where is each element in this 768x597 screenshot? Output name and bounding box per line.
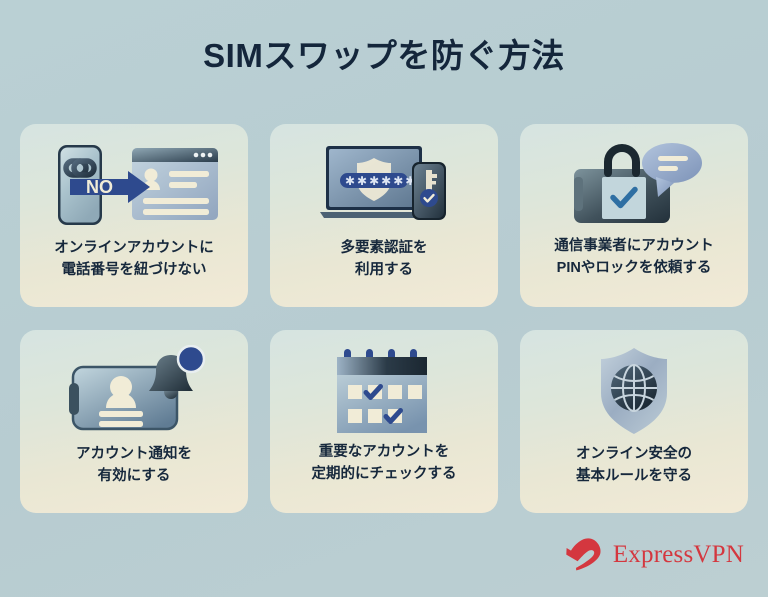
tip-card-6[interactable]: オンライン安全の 基本ルールを守る bbox=[520, 330, 748, 513]
tip-card-2-label: 多要素認証を 利用する bbox=[278, 238, 490, 282]
tip-card-1-label: オンラインアカウントに 電話番号を紐づけない bbox=[28, 238, 240, 282]
tips-grid: NO オンラインアカウントに 電話番号を紐づけない bbox=[20, 124, 748, 513]
phone-no-link-to-browser-account-icon: NO bbox=[20, 138, 248, 232]
infographic-poster: SIMスワップを防ぐ方法 bbox=[0, 0, 768, 597]
laptop-shield-password-phone-key-icon: ✱✱✱✱✱✱ bbox=[270, 138, 498, 232]
tip-card-2[interactable]: ✱✱✱✱✱✱ 多要素認証を 利用する bbox=[270, 124, 498, 307]
expressvpn-e-mark-icon bbox=[564, 537, 604, 571]
page-title: SIMスワップを防ぐ方法 bbox=[0, 36, 768, 76]
password-mask-text: ✱✱✱✱✱✱ bbox=[345, 174, 417, 188]
no-badge-text: NO bbox=[86, 177, 113, 197]
tip-card-4-label: アカウント通知を 有効にする bbox=[28, 444, 240, 488]
tip-card-5[interactable]: 重要なアカウントを 定期的にチェックする bbox=[270, 330, 498, 513]
briefcase-padlock-check-chat-bubble-icon bbox=[520, 138, 748, 232]
id-card-bell-notification-icon bbox=[20, 344, 248, 438]
shield-globe-icon bbox=[520, 344, 748, 438]
tip-card-3-label: 通信事業者にアカウント PINやロックを依頼する bbox=[528, 236, 740, 280]
expressvpn-wordmark: ExpressVPN bbox=[613, 542, 744, 567]
expressvpn-logo[interactable]: ExpressVPN bbox=[564, 537, 744, 571]
tip-card-6-label: オンライン安全の 基本ルールを守る bbox=[528, 444, 740, 488]
tip-card-5-label: 重要なアカウントを 定期的にチェックする bbox=[278, 442, 490, 486]
tip-card-4[interactable]: アカウント通知を 有効にする bbox=[20, 330, 248, 513]
calendar-checkmarks-icon bbox=[270, 344, 498, 438]
tip-card-1[interactable]: NO オンラインアカウントに 電話番号を紐づけない bbox=[20, 124, 248, 307]
tip-card-3[interactable]: 通信事業者にアカウント PINやロックを依頼する bbox=[520, 124, 748, 307]
